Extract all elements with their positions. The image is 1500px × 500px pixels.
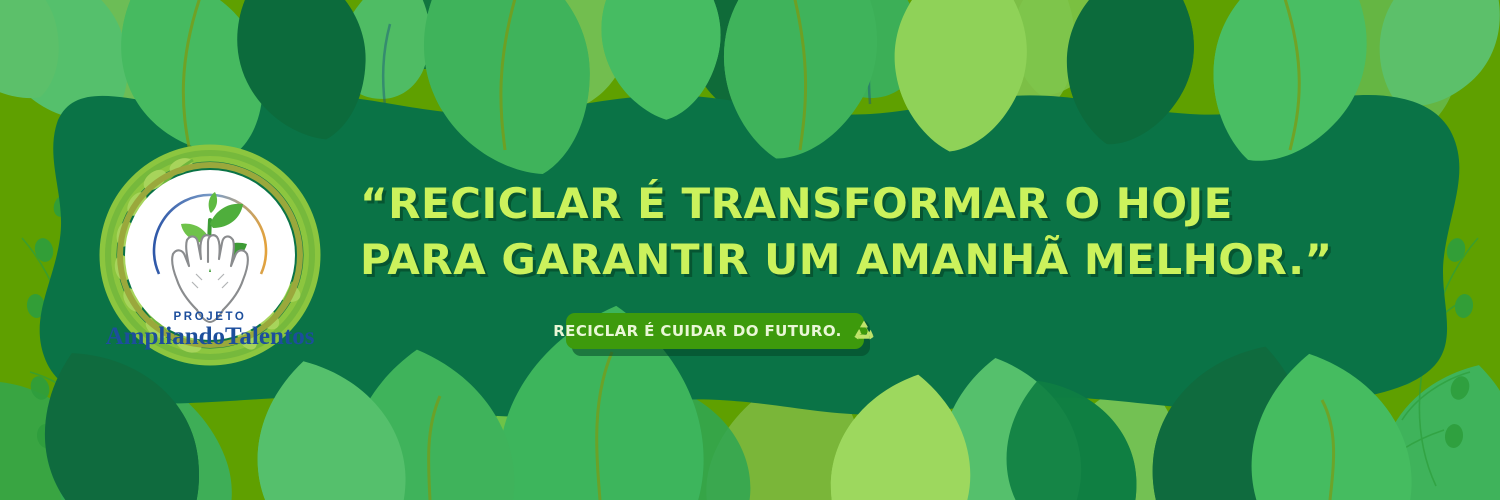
headline-quote: “RECICLAR É TRANSFORMAR O HOJE PARA GARA… — [360, 176, 1160, 288]
headline-line-2: PARA GARANTIR UM AMANHÃ MELHOR.” — [360, 232, 1160, 288]
project-logo: PROJETO AmpliandoTalentos — [97, 142, 323, 368]
cta-button[interactable]: RECICLAR É CUIDAR DO FUTURO. — [566, 313, 864, 349]
recycling-banner: PROJETO AmpliandoTalentos “RECICLAR É TR… — [0, 0, 1500, 500]
cta-button-label: RECICLAR É CUIDAR DO FUTURO. — [553, 322, 842, 340]
headline-line-1: “RECICLAR É TRANSFORMAR O HOJE — [360, 176, 1160, 232]
logo-kicker: PROJETO — [174, 311, 247, 323]
recycle-icon — [851, 318, 877, 344]
logo-wordmark: AmpliandoTalentos — [106, 323, 315, 350]
banner-content: PROJETO AmpliandoTalentos “RECICLAR É TR… — [0, 0, 1500, 500]
